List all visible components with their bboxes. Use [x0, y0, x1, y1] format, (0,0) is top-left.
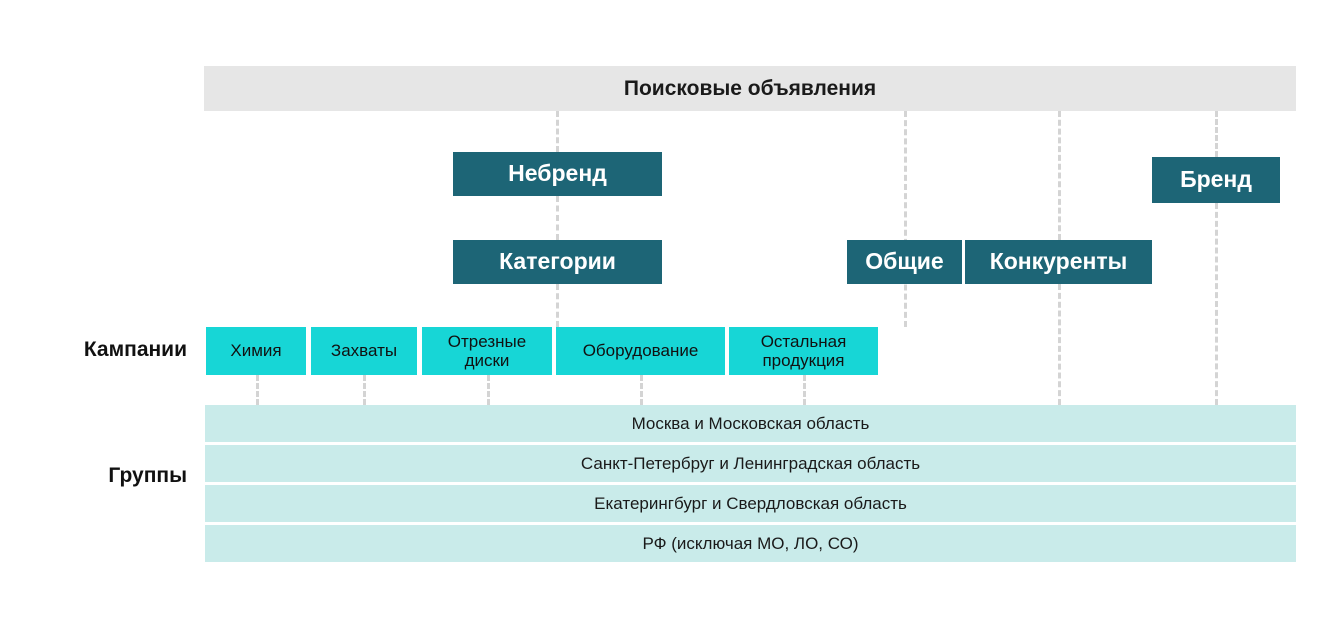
row-label-campaigns: Кампании [27, 338, 187, 362]
connector-campaign-other-to-groups [803, 375, 806, 405]
block-categories[interactable]: Категории [453, 240, 662, 284]
group-row-russia-rest[interactable]: РФ (исключая МО, ЛО, СО) [205, 525, 1296, 562]
campaign-other-products[interactable]: Остальная продукция [729, 327, 878, 375]
connector-campaign-chemistry-to-groups [256, 375, 259, 405]
diagram-canvas: Поисковые объявления Небренд Бренд Катег… [0, 0, 1340, 630]
block-brand[interactable]: Бренд [1152, 157, 1280, 203]
campaign-cutting-discs[interactable]: Отрезные диски [422, 327, 552, 375]
campaign-grippers[interactable]: Захваты [311, 327, 417, 375]
connector-campaign-equipment-to-groups [640, 375, 643, 405]
connector-header-to-general [904, 111, 907, 327]
campaign-equipment[interactable]: Оборудование [556, 327, 725, 375]
header-search-ads: Поисковые объявления [204, 66, 1296, 111]
block-competitors[interactable]: Конкуренты [965, 240, 1152, 284]
connector-campaign-cutting-discs-to-groups [487, 375, 490, 405]
connector-nonbrand-to-categories [556, 196, 559, 240]
connector-campaign-grippers-to-groups [363, 375, 366, 405]
block-nonbrand[interactable]: Небренд [453, 152, 662, 196]
campaign-chemistry[interactable]: Химия [206, 327, 306, 375]
connector-header-to-nonbrand [556, 111, 559, 152]
group-row-moscow[interactable]: Москва и Московская область [205, 405, 1296, 442]
connector-header-to-brand [1215, 111, 1218, 157]
row-label-groups: Группы [27, 464, 187, 488]
block-general[interactable]: Общие [847, 240, 962, 284]
connector-competitors-to-groups [1058, 284, 1061, 405]
group-row-saint-petersburg[interactable]: Санкт-Петербруг и Ленинградская область [205, 445, 1296, 482]
group-row-yekaterinburg[interactable]: Екатерингбург и Свердловская область [205, 485, 1296, 522]
connector-brand-to-groups [1215, 203, 1218, 405]
connector-categories-to-campaigns [556, 284, 559, 327]
connector-header-to-competitors [1058, 111, 1061, 240]
